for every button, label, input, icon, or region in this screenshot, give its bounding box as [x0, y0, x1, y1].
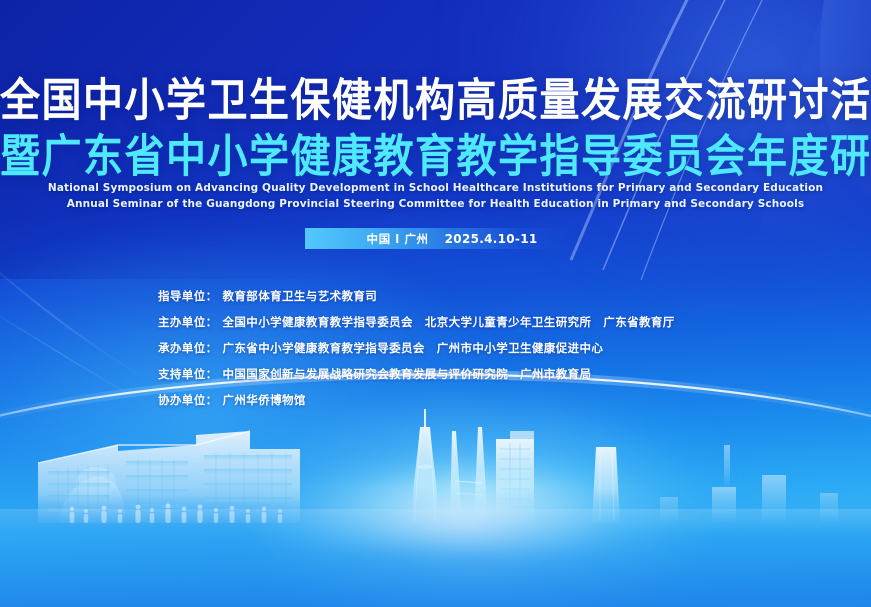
organization-row: 主办单位： 全国中小学健康教育教学指导委员会 北京大学儿童青少年卫生研究所 广东…: [158, 314, 675, 340]
organization-row: 支持单位： 中国国家创新与发展战略研究会教育发展与评价研究院 广州市教育局: [158, 366, 675, 392]
organization-label: 支持单位：: [158, 366, 218, 382]
subtitle-english-line1: National Symposium on Advancing Quality …: [0, 180, 871, 196]
organization-value: 教育部体育卫生与艺术教育司: [223, 288, 378, 304]
event-info-badge: 中国 l 广州 2025.4.10-11: [305, 228, 567, 249]
subtitle-block: National Symposium on Advancing Quality …: [0, 180, 871, 212]
organization-label: 协办单位：: [158, 392, 218, 408]
organization-row: 指导单位： 教育部体育卫生与艺术教育司: [158, 288, 675, 314]
organization-value: 全国中小学健康教育教学指导委员会 北京大学儿童青少年卫生研究所 广东省教育厅: [223, 314, 675, 330]
organization-row: 协办单位： 广州华侨博物馆: [158, 392, 675, 418]
page-title-secondary: 暨广东省中小学健康教育教学指导委员会年度研讨活动: [0, 130, 871, 184]
event-date: 2025.4.10-11: [445, 232, 538, 246]
event-info-badge-content: 中国 l 广州 2025.4.10-11: [367, 231, 538, 247]
subtitle-english-line2: Annual Seminar of the Guangdong Provinci…: [0, 196, 871, 212]
event-info-badge-row: 中国 l 广州 2025.4.10-11: [0, 228, 871, 249]
organization-label: 主办单位：: [158, 314, 218, 330]
organization-value: 中国国家创新与发展战略研究会教育发展与评价研究院 广州市教育局: [223, 366, 592, 382]
title-block: 全国中小学卫生保健机构高质量发展交流研讨活动 暨广东省中小学健康教育教学指导委员…: [0, 74, 871, 178]
organization-row: 承办单位： 广东省中小学健康教育教学指导委员会 广州市中小学卫生健康促进中心: [158, 340, 675, 366]
organization-value: 广东省中小学健康教育教学指导委员会 广州市中小学卫生健康促进中心: [223, 340, 604, 356]
organization-value: 广州华侨博物馆: [223, 392, 306, 408]
event-location: 中国 l 广州: [367, 231, 429, 247]
organizations-list: 指导单位： 教育部体育卫生与艺术教育司 主办单位： 全国中小学健康教育教学指导委…: [158, 288, 675, 418]
page-title-primary: 全国中小学卫生保健机构高质量发展交流研讨活动: [0, 74, 871, 128]
conference-poster: 全国中小学卫生保健机构高质量发展交流研讨活动 暨广东省中小学健康教育教学指导委员…: [0, 0, 871, 607]
organization-label: 承办单位：: [158, 340, 218, 356]
organization-label: 指导单位：: [158, 288, 218, 304]
